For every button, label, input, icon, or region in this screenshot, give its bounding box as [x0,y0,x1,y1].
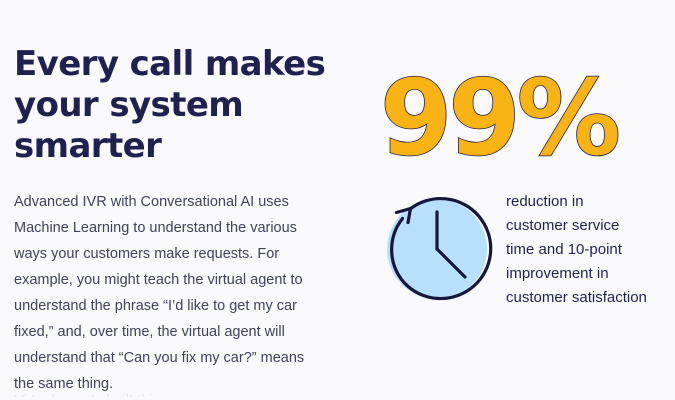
stat-percentage: 99% [380,62,617,174]
stat-number-wrap: 99% [380,62,675,174]
text-column: Every call makes your system smarter Adv… [14,44,332,397]
stat-column: 99% reduction in customer service time a… [380,62,675,174]
page-title: Every call makes your system smarter [14,44,332,167]
clipped-paragraph-line: Virtual agents built this way can [14,388,314,397]
stat-caption: reduction in customer service time and 1… [506,190,675,310]
clock-rotate-icon [382,192,494,304]
marketing-section: Every call makes your system smarter Adv… [0,0,675,400]
body-paragraph: Advanced IVR with Conversational AI uses… [14,167,314,397]
stat-detail-row: reduction in customer service time and 1… [380,188,675,310]
